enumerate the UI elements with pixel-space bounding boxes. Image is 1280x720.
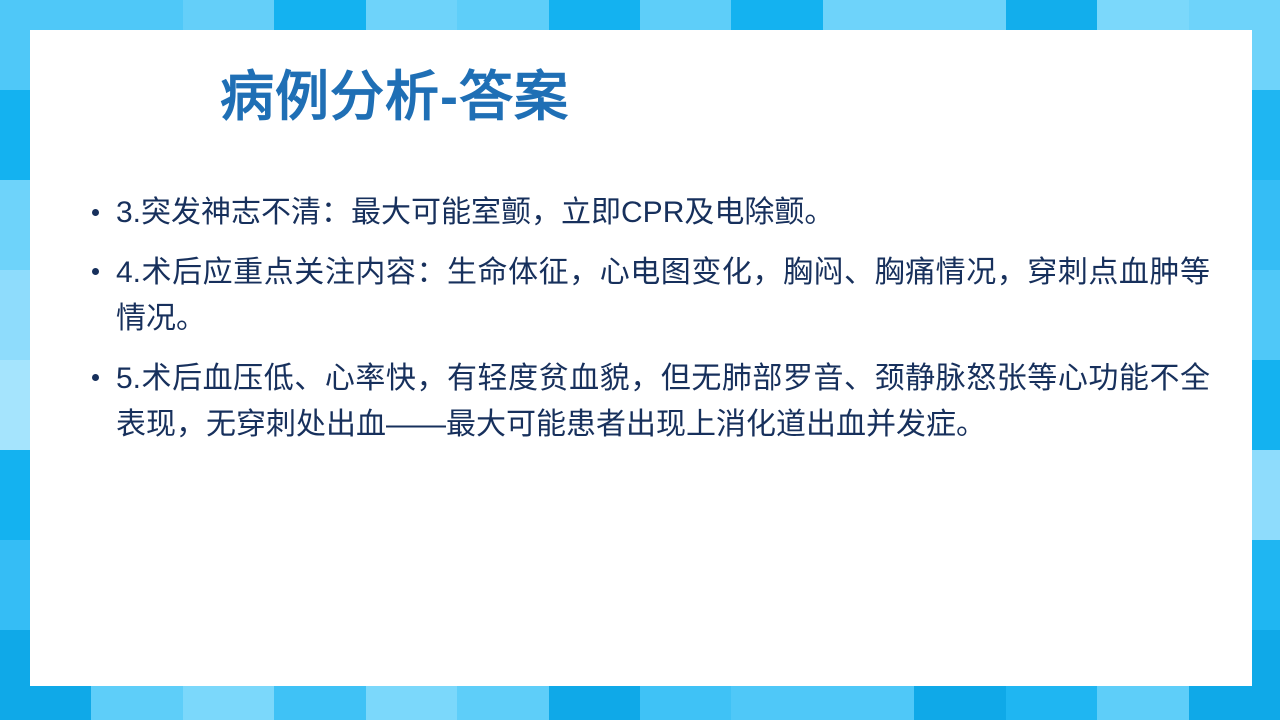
slide-title: 病例分析-答案 xyxy=(220,66,1120,128)
bullet-dot-icon xyxy=(92,374,99,381)
bullet-dot-icon xyxy=(92,209,99,216)
bullet-dot-icon xyxy=(92,268,99,275)
slide-root: 病例分析-答案 3.突发神志不清：最大可能室颤，立即CPR及电除颤。 4.术后应… xyxy=(0,0,1280,720)
bullet-item: 5.术后血压低、心率快，有轻度贫血貌，但无肺部罗音、颈静脉怒张等心功能不全表现，… xyxy=(90,356,1210,448)
bullet-text: 3.突发神志不清：最大可能室颤，立即CPR及电除颤。 xyxy=(116,196,834,229)
bullet-item: 3.突发神志不清：最大可能室颤，立即CPR及电除颤。 xyxy=(90,190,1210,236)
bullet-text: 4.术后应重点关注内容：生命体征，心电图变化，胸闷、胸痛情况，穿刺点血肿等情况。 xyxy=(116,256,1210,335)
slide-body: 3.突发神志不清：最大可能室颤，立即CPR及电除颤。 4.术后应重点关注内容：生… xyxy=(90,190,1210,461)
bullet-item: 4.术后应重点关注内容：生命体征，心电图变化，胸闷、胸痛情况，穿刺点血肿等情况。 xyxy=(90,250,1210,342)
slide-content-card: 病例分析-答案 3.突发神志不清：最大可能室颤，立即CPR及电除颤。 4.术后应… xyxy=(30,30,1252,686)
bullet-text: 5.术后血压低、心率快，有轻度贫血貌，但无肺部罗音、颈静脉怒张等心功能不全表现，… xyxy=(116,362,1210,441)
bullet-list: 3.突发神志不清：最大可能室颤，立即CPR及电除颤。 4.术后应重点关注内容：生… xyxy=(90,190,1210,447)
